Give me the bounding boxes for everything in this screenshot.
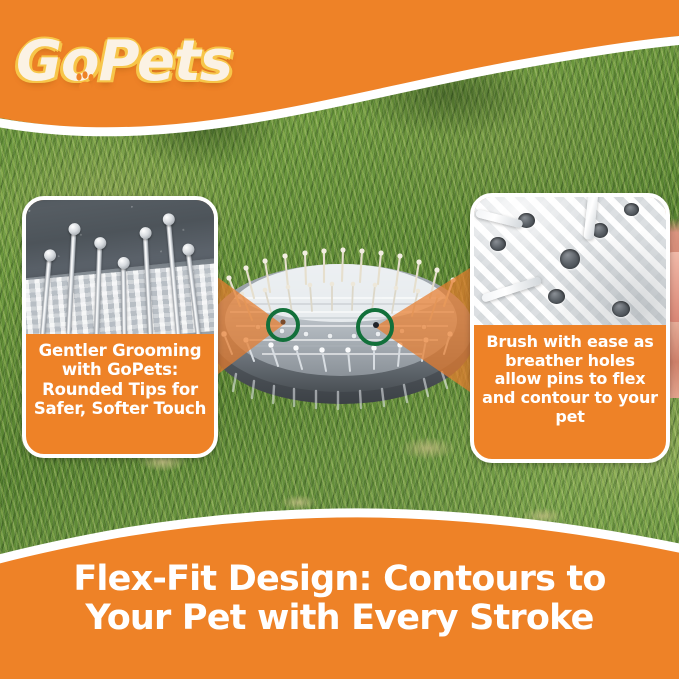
- headline-line-2: Your Pet with Every Stroke: [18, 599, 661, 638]
- breather-hole: [612, 301, 630, 317]
- feature-card-right-caption: Brush with ease as breather holes allow …: [474, 325, 666, 436]
- feature-card-left: Gentler Grooming with GoPets: Rounded Ti…: [22, 196, 218, 458]
- headline: Flex-Fit Design: Contours to Your Pet wi…: [0, 560, 679, 638]
- brand-logo-text: GoPets: [16, 26, 226, 98]
- paw-print-icon: [72, 70, 98, 96]
- feature-photo-breather-holes: [474, 197, 666, 325]
- breather-pad-texture: [474, 197, 666, 325]
- pins-macro-texture: [26, 200, 214, 334]
- breather-hole: [624, 203, 639, 216]
- headline-line-1: Flex-Fit Design: Contours to: [73, 559, 605, 599]
- feature-photo-rounded-tips: [26, 200, 214, 334]
- brand-logo: GoPets: [16, 26, 226, 98]
- breather-hole: [490, 237, 506, 251]
- feature-card-right: Brush with ease as breather holes allow …: [470, 193, 670, 463]
- feature-card-left-caption: Gentler Grooming with GoPets: Rounded Ti…: [26, 334, 214, 427]
- product-photo-brush-head: [196, 228, 486, 428]
- marketing-image: GoPets: [0, 0, 679, 679]
- breather-hole: [560, 249, 580, 269]
- breather-hole: [548, 289, 565, 304]
